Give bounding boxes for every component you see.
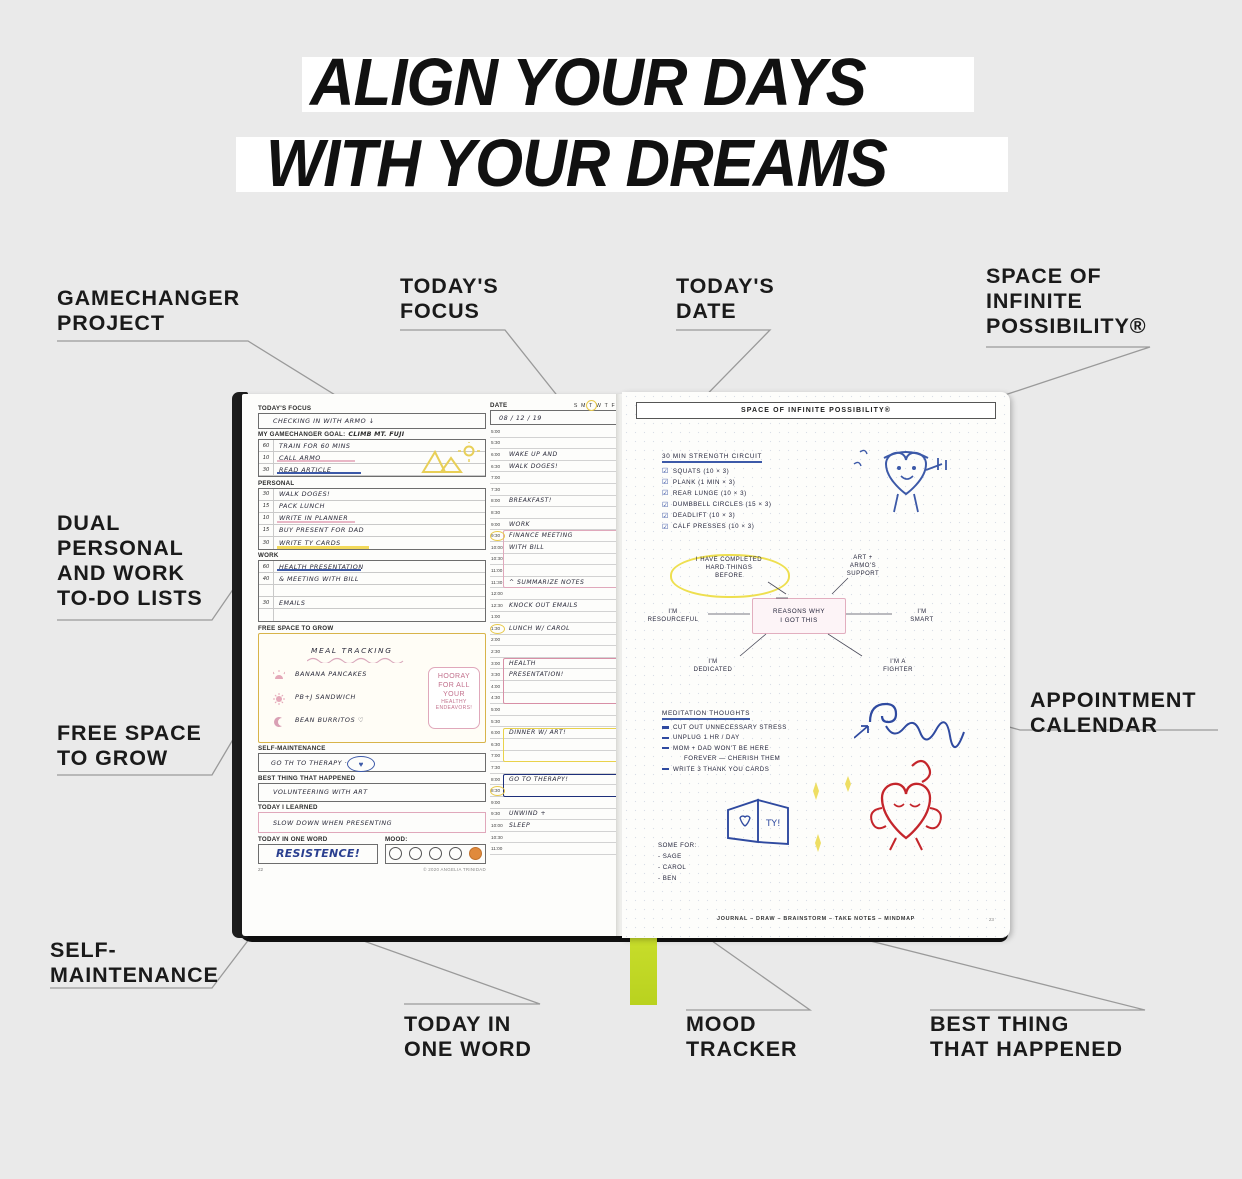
time-slot[interactable]: 3:00HEALTH — [490, 658, 622, 670]
some-for-label: SOME FOR: — [658, 842, 697, 849]
circuit-item-text: CALF PRESSES (10 × 3) — [673, 523, 755, 530]
callout-space-of-infinite-possibility: SPACE OF INFINITE POSSIBILITY® — [986, 264, 1146, 339]
slot-time: 5:00 — [490, 707, 506, 712]
task-minutes: 15 — [259, 525, 274, 536]
callout-today-in-one-word: TODAY IN ONE WORD — [404, 1012, 532, 1062]
work-label: WORK — [258, 552, 486, 559]
right-page: SPACE OF INFINITE POSSIBILITY® 30 MIN ST… — [622, 392, 1010, 938]
slot-time: 10:30 — [490, 556, 506, 561]
date-header: DATE S M T W T F S — [490, 402, 622, 409]
todays-focus-label: TODAY'S FOCUS — [258, 405, 486, 412]
slot-time: 4:00 — [490, 684, 506, 689]
task-text: EMAILS — [274, 599, 305, 607]
time-slot[interactable]: 8:00BREAKFAST! — [490, 496, 622, 508]
check-icon: ☑ — [662, 467, 669, 475]
slot-time: 5:00 — [490, 429, 506, 434]
right-page-content: SPACE OF INFINITE POSSIBILITY® 30 MIN ST… — [636, 402, 996, 928]
squiggle-divider — [307, 657, 415, 663]
mood-happy-face-icon[interactable] — [449, 847, 462, 860]
slot-time: 1:00 — [490, 614, 506, 619]
slot-event: WITH BILL — [506, 544, 544, 551]
table-row[interactable]: 15 BUY PRESENT FOR DAD — [259, 525, 485, 537]
task-underline — [277, 546, 369, 549]
time-slot[interactable]: 8:30 — [490, 785, 622, 797]
table-row[interactable]: 30 WALK DOGES! — [259, 489, 485, 501]
task-minutes: 30 — [259, 597, 274, 608]
callout-self-maintenance: SELF- MAINTENANCE — [50, 938, 219, 988]
slot-time: 7:30 — [490, 487, 506, 492]
slot-time: 6:00 — [490, 452, 506, 457]
mountain-sun-doodle — [419, 442, 481, 474]
slot-event: UNWIND + — [506, 810, 546, 817]
hugging-hearts-doodle — [846, 752, 966, 862]
task-text: TRAIN FOR 60 MINS — [274, 442, 351, 450]
list-item[interactable]: MOM + DAD WON'T BE HERE — [662, 745, 787, 752]
mindmap-connector-lines — [636, 542, 966, 672]
list-item: - SAGE — [658, 853, 697, 860]
time-slot[interactable]: 10:00WITH BILL — [490, 542, 622, 554]
sun-icon — [273, 693, 285, 705]
check-icon: ☑ — [662, 523, 669, 531]
mood-neutral-face-icon[interactable] — [389, 847, 402, 860]
slot-time: 9:00 — [490, 800, 506, 805]
time-slot[interactable]: 5:00 — [490, 704, 622, 716]
slot-time: 1:30 — [490, 626, 506, 631]
slot-time: 11:00 — [490, 568, 506, 573]
check-icon: ☑ — [662, 489, 669, 497]
meditation-item-continuation: FOREVER — CHERISH THEM — [662, 755, 787, 762]
callout-appointment-calendar: APPOINTMENT CALENDAR — [1030, 688, 1196, 738]
time-slot[interactable]: 8:30 — [490, 507, 622, 519]
time-slot[interactable]: 9:30FINANCE MEETING — [490, 530, 622, 542]
slot-time: 6:30 — [490, 742, 506, 747]
slot-time: 8:30 — [490, 510, 506, 515]
mood-filled-glow-face-icon[interactable] — [469, 847, 482, 860]
time-slot[interactable]: 10:00SLEEP — [490, 820, 622, 832]
free-space-to-grow-area[interactable]: MEAL TRACKING BANANA PANCAKES PB+J SANDW… — [258, 633, 486, 743]
right-page-footer: JOURNAL – DRAW – BRAINSTORM – TAKE NOTES… — [636, 916, 996, 922]
slot-time: 4:30 — [490, 695, 506, 700]
dow-fri[interactable]: F — [611, 403, 614, 409]
task-minutes: 15 — [259, 501, 274, 512]
slot-time: 10:00 — [490, 545, 506, 550]
slot-time: 10:30 — [490, 835, 506, 840]
time-slot[interactable]: 7:30 — [490, 762, 622, 774]
meditation-thoughts-title: MEDITATION THOUGHTS — [662, 710, 750, 720]
callout-mood-tracker: MOOD TRACKER — [686, 1012, 797, 1062]
planner-notebook: TODAY'S FOCUS CHECKING IN WITH ARMO ↓ MY… — [232, 392, 1010, 948]
slot-time: 9:30 — [490, 811, 506, 816]
task-minutes: 40 — [259, 573, 274, 584]
time-slot[interactable]: 1:30LUNCH W/ CAROL — [490, 623, 622, 635]
list-item[interactable]: WRITE 3 THANK YOU CARDS — [662, 766, 787, 773]
appointment-calendar[interactable]: DATE S M T W T F S 08 / 12 / 19 5:005:30… — [490, 402, 622, 930]
slot-time: 9:30 — [490, 533, 506, 538]
slot-time: 2:00 — [490, 637, 506, 642]
time-slot[interactable]: 10:30 — [490, 832, 622, 844]
task-text: WALK DOGES! — [274, 490, 330, 498]
meditation-item-text: UNPLUG 1 HR / DAY — [673, 734, 740, 741]
check-icon: ☑ — [662, 501, 669, 509]
task-minutes: 30 — [259, 489, 274, 500]
task-minutes: 10 — [259, 513, 274, 524]
one-word-label: TODAY IN ONE WORD — [258, 836, 378, 843]
list-item: - CAROL — [658, 864, 697, 871]
time-slot[interactable]: 12:00 — [490, 588, 622, 600]
check-icon: ☑ — [662, 478, 669, 486]
slot-time: 8:30 — [490, 788, 506, 793]
circuit-item-text: REAR LUNGE (10 × 3) — [673, 490, 747, 497]
slot-time: 5:30 — [490, 440, 506, 445]
strength-circuit-title: 30 MIN STRENGTH CIRCUIT — [662, 453, 762, 463]
meal-item-2: PB+J SANDWICH — [295, 693, 356, 701]
dow-thu[interactable]: T — [605, 403, 608, 409]
bubble-line-3: YOUR — [429, 690, 479, 699]
table-row[interactable]: 15 PACK LUNCH — [259, 501, 485, 513]
slot-event: LUNCH W/ CAROL — [506, 625, 570, 632]
slot-event: BREAKFAST! — [506, 497, 552, 504]
headline-line-1: ALIGN YOUR DAYS — [310, 44, 866, 121]
one-word-input[interactable]: RESISTENCE! — [258, 844, 378, 864]
copyright-notice: © 2020 ANGELIA TRINIDAD — [423, 867, 486, 872]
meal-item-1: BANANA PANCAKES — [295, 670, 367, 678]
sunrise-icon — [273, 670, 285, 682]
slot-event: GO TO THERAPY! — [506, 776, 568, 783]
heart-workout-doodle — [846, 434, 966, 526]
task-minutes: 60 — [259, 561, 274, 572]
time-slot-list[interactable]: 5:005:306:00WAKE UP AND6:30WALK DOGES!7:… — [490, 426, 622, 855]
hooray-speech-bubble: HOORAY FOR ALL YOUR HEALTHY ENDEAVORS! — [428, 667, 480, 729]
time-slot[interactable]: 6:00DINNER W/ ART! — [490, 727, 622, 739]
time-slot[interactable]: 11:30^ SUMMARIZE NOTES — [490, 577, 622, 589]
today-i-learned-input[interactable]: SLOW DOWN WHEN PRESENTING — [258, 812, 486, 833]
table-row[interactable]: 10 WRITE IN PLANNER — [259, 513, 485, 525]
best-thing-label: BEST THING THAT HAPPENED — [258, 775, 486, 782]
day-of-week-selector[interactable]: S M T W T F S — [574, 403, 622, 409]
task-minutes — [259, 585, 274, 596]
time-slot[interactable]: 8:00GO TO THERAPY! — [490, 774, 622, 786]
circuit-item-text: SQUATS (10 × 3) — [673, 468, 729, 475]
time-slot[interactable]: 6:30 — [490, 739, 622, 751]
mood-slight-smile-face-icon[interactable] — [429, 847, 442, 860]
time-slot[interactable]: 3:30PRESENTATION! — [490, 669, 622, 681]
task-underline — [277, 460, 355, 462]
dash-icon — [662, 737, 669, 739]
time-slot[interactable]: 5:30 — [490, 438, 622, 450]
time-slot[interactable]: 9:00WORK — [490, 519, 622, 531]
task-underline — [277, 472, 361, 474]
bottom-row: TODAY IN ONE WORD RESISTENCE! MOOD: — [258, 833, 486, 864]
slot-time: 7:30 — [490, 765, 506, 770]
one-word-section: TODAY IN ONE WORD RESISTENCE! — [258, 833, 378, 864]
time-slot[interactable]: 7:30 — [490, 484, 622, 496]
mood-section: MOOD: — [385, 833, 486, 864]
left-page-content: TODAY'S FOCUS CHECKING IN WITH ARMO ↓ MY… — [258, 402, 486, 930]
time-slot[interactable]: 10:30 — [490, 554, 622, 566]
dow-tue-selected[interactable]: T — [589, 403, 592, 409]
time-slot[interactable]: 11:00 — [490, 565, 622, 577]
task-text: PACK LUNCH — [274, 502, 325, 510]
meal-tracking-title: MEAL TRACKING — [311, 646, 393, 655]
time-slot[interactable]: 6:30WALK DOGES! — [490, 461, 622, 473]
time-slot[interactable]: 9:00 — [490, 797, 622, 809]
meditation-item-text: WRITE 3 THANK YOU CARDS — [673, 766, 769, 773]
slot-time: 7:00 — [490, 753, 506, 758]
list-item[interactable]: UNPLUG 1 HR / DAY — [662, 734, 787, 741]
table-row[interactable]: 30 EMAILS — [259, 597, 485, 609]
slot-event: DINNER W/ ART! — [506, 729, 566, 736]
task-minutes — [259, 609, 274, 621]
time-slot[interactable]: 11:00 — [490, 843, 622, 855]
task-underline — [277, 569, 361, 571]
date-value: 08 / 12 / 19 — [499, 414, 542, 422]
time-slot[interactable]: 4:30 — [490, 693, 622, 705]
slot-time: 11:30 — [490, 580, 506, 585]
bubble-line-2: FOR ALL — [429, 681, 479, 690]
slot-time: 6:00 — [490, 730, 506, 735]
free-space-label: FREE SPACE TO GROW — [258, 625, 486, 632]
headline-line-2: WITH YOUR DREAMS — [266, 125, 887, 202]
time-slot[interactable]: 7:00 — [490, 472, 622, 484]
time-slot[interactable]: 9:30UNWIND + — [490, 809, 622, 821]
slot-time: 6:30 — [490, 464, 506, 469]
slot-time: 3:30 — [490, 672, 506, 677]
circuit-item-text: DEADLIFT (10 × 3) — [673, 512, 735, 519]
best-thing-input[interactable]: VOLUNTEERING WITH ART — [258, 783, 486, 802]
time-slot[interactable]: 7:00 — [490, 751, 622, 763]
table-row[interactable]: 40 & MEETING WITH BILL — [259, 573, 485, 585]
callout-dual-todo-lists: DUAL PERSONAL AND WORK TO-DO LISTS — [57, 511, 203, 611]
slot-time: 10:00 — [490, 823, 506, 828]
dash-icon — [662, 747, 669, 749]
list-item: - BEN — [658, 875, 697, 882]
slot-time: 12:00 — [490, 591, 506, 596]
slot-time: 3:00 — [490, 661, 506, 666]
right-page-number: 23 — [989, 917, 994, 922]
time-slot[interactable]: 12:30KNOCK OUT EMAILS — [490, 600, 622, 612]
todays-focus-value: CHECKING IN WITH ARMO ↓ — [259, 417, 375, 425]
meditation-item-text: CUT OUT UNNECESSARY STRESS — [673, 724, 787, 731]
todays-focus-input[interactable]: CHECKING IN WITH ARMO ↓ — [258, 413, 486, 429]
task-minutes: 30 — [259, 464, 274, 475]
sparkle-doodles — [796, 772, 856, 882]
task-minutes: 60 — [259, 440, 274, 451]
task-minutes: 30 — [259, 537, 274, 549]
callout-free-space-to-grow: FREE SPACE TO GROW — [57, 721, 202, 771]
time-slot[interactable]: 5:30 — [490, 716, 622, 728]
time-slot[interactable]: 5:00 — [490, 426, 622, 438]
book-doodle-text: TY! — [765, 819, 781, 829]
date-label: DATE — [490, 402, 507, 409]
table-row[interactable] — [259, 585, 485, 597]
table-row[interactable] — [259, 609, 485, 621]
dow-mon[interactable]: M — [581, 403, 586, 409]
task-text: BUY PRESENT FOR DAD — [274, 526, 364, 534]
slot-time: 5:30 — [490, 719, 506, 724]
left-page-number: 22 — [258, 867, 263, 872]
check-icon: ☑ — [662, 512, 669, 520]
slot-time: 8:00 — [490, 498, 506, 503]
moon-icon — [273, 716, 285, 728]
slot-event: HEALTH — [506, 660, 536, 667]
mood-tracker-row[interactable] — [385, 844, 486, 864]
work-task-list[interactable]: 60 HEALTH PRESENTATION 40 & MEETING WITH… — [258, 560, 486, 622]
open-book-doodle: TY! — [724, 794, 798, 850]
list-item[interactable]: CUT OUT UNNECESSARY STRESS — [662, 724, 787, 731]
self-maintenance-value: GO TH TO THERAPY · — [259, 759, 347, 767]
slot-event: ^ SUMMARIZE NOTES — [506, 579, 584, 586]
dash-icon — [662, 726, 669, 728]
mood-sad-face-icon[interactable] — [409, 847, 422, 860]
slot-event: SLEEP — [506, 822, 530, 829]
slot-time: 9:00 — [490, 522, 506, 527]
callout-todays-focus: TODAY'S FOCUS — [400, 274, 499, 324]
slot-time: 12:30 — [490, 603, 506, 608]
self-maintenance-input[interactable]: GO TH TO THERAPY · ♥ — [258, 753, 486, 772]
time-slot[interactable]: 4:00 — [490, 681, 622, 693]
time-slot[interactable]: 6:00WAKE UP AND — [490, 449, 622, 461]
today-i-learned-value: SLOW DOWN WHEN PRESENTING — [259, 819, 392, 827]
gamechanger-task-list[interactable]: 60 TRAIN FOR 60 MINS 10 CALL ARMO 30 REA… — [258, 439, 486, 477]
personal-task-list[interactable]: 30 WALK DOGES! 15 PACK LUNCH 10 WRITE IN… — [258, 488, 486, 550]
gamechanger-goal-label: MY GAMECHANGER GOAL: — [258, 431, 345, 438]
callout-best-thing-that-happened: BEST THING THAT HAPPENED — [930, 1012, 1123, 1062]
table-row[interactable]: 60 HEALTH PRESENTATION — [259, 561, 485, 573]
slot-event: FINANCE MEETING — [506, 532, 573, 539]
callout-gamechanger-project: GAMECHANGER PROJECT — [57, 286, 240, 336]
slot-event: PRESENTATION! — [506, 671, 564, 678]
task-underline — [277, 521, 355, 523]
slot-time: 11:00 — [490, 846, 506, 851]
meal-item-3: BEAN BURRITOS ♡ — [295, 716, 364, 724]
task-text: & MEETING WITH BILL — [274, 575, 359, 583]
slot-time: 7:00 — [490, 475, 506, 480]
slot-event: WALK DOGES! — [506, 463, 558, 470]
gamechanger-goal-value: CLIMB MT. FUJI — [348, 431, 404, 438]
bubble-line-1: HOORAY — [429, 672, 479, 681]
time-slot[interactable]: 1:00 — [490, 612, 622, 624]
slot-event: WAKE UP AND — [506, 451, 558, 458]
circuit-item-text: DUMBBELL CIRCLES (15 × 3) — [673, 501, 772, 508]
callout-todays-date: TODAY'S DATE — [676, 274, 775, 324]
slot-time: 2:30 — [490, 649, 506, 654]
slot-time: 8:00 — [490, 777, 506, 782]
heart-bubble-icon: ♥ — [347, 756, 375, 772]
self-maintenance-label: SELF-MAINTENANCE — [258, 745, 486, 752]
best-thing-value: VOLUNTEERING WITH ART — [259, 788, 368, 796]
dash-icon — [662, 768, 669, 770]
slot-event: WORK — [506, 521, 530, 528]
date-input[interactable]: 08 / 12 / 19 — [490, 410, 622, 425]
bubble-line-5: ENDEAVORS! — [429, 705, 479, 712]
meditation-item-text: MOM + DAD WON'T BE HERE — [673, 745, 769, 752]
time-slot[interactable]: 2:30 — [490, 646, 622, 658]
ribbon-bookmark — [630, 932, 657, 1005]
time-slot[interactable]: 2:00 — [490, 635, 622, 647]
space-of-infinite-possibility-header: SPACE OF INFINITE POSSIBILITY® — [636, 402, 996, 419]
phone-unplug-doodle — [854, 694, 984, 754]
table-row[interactable]: 30 WRITE TY CARDS — [259, 537, 485, 549]
personal-label: PERSONAL — [258, 480, 486, 487]
dow-sun[interactable]: S — [574, 403, 578, 409]
mood-label: MOOD: — [385, 836, 486, 843]
slot-event: KNOCK OUT EMAILS — [506, 602, 578, 609]
task-minutes: 10 — [259, 452, 274, 463]
one-word-value: RESISTENCE! — [276, 847, 360, 860]
circuit-item-text: PLANK (1 MIN × 3) — [673, 479, 735, 486]
left-page: TODAY'S FOCUS CHECKING IN WITH ARMO ↓ MY… — [242, 394, 622, 936]
today-i-learned-label: TODAY I LEARNED — [258, 804, 486, 811]
gamechanger-goal-row: MY GAMECHANGER GOAL: CLIMB MT. FUJI — [258, 431, 486, 438]
